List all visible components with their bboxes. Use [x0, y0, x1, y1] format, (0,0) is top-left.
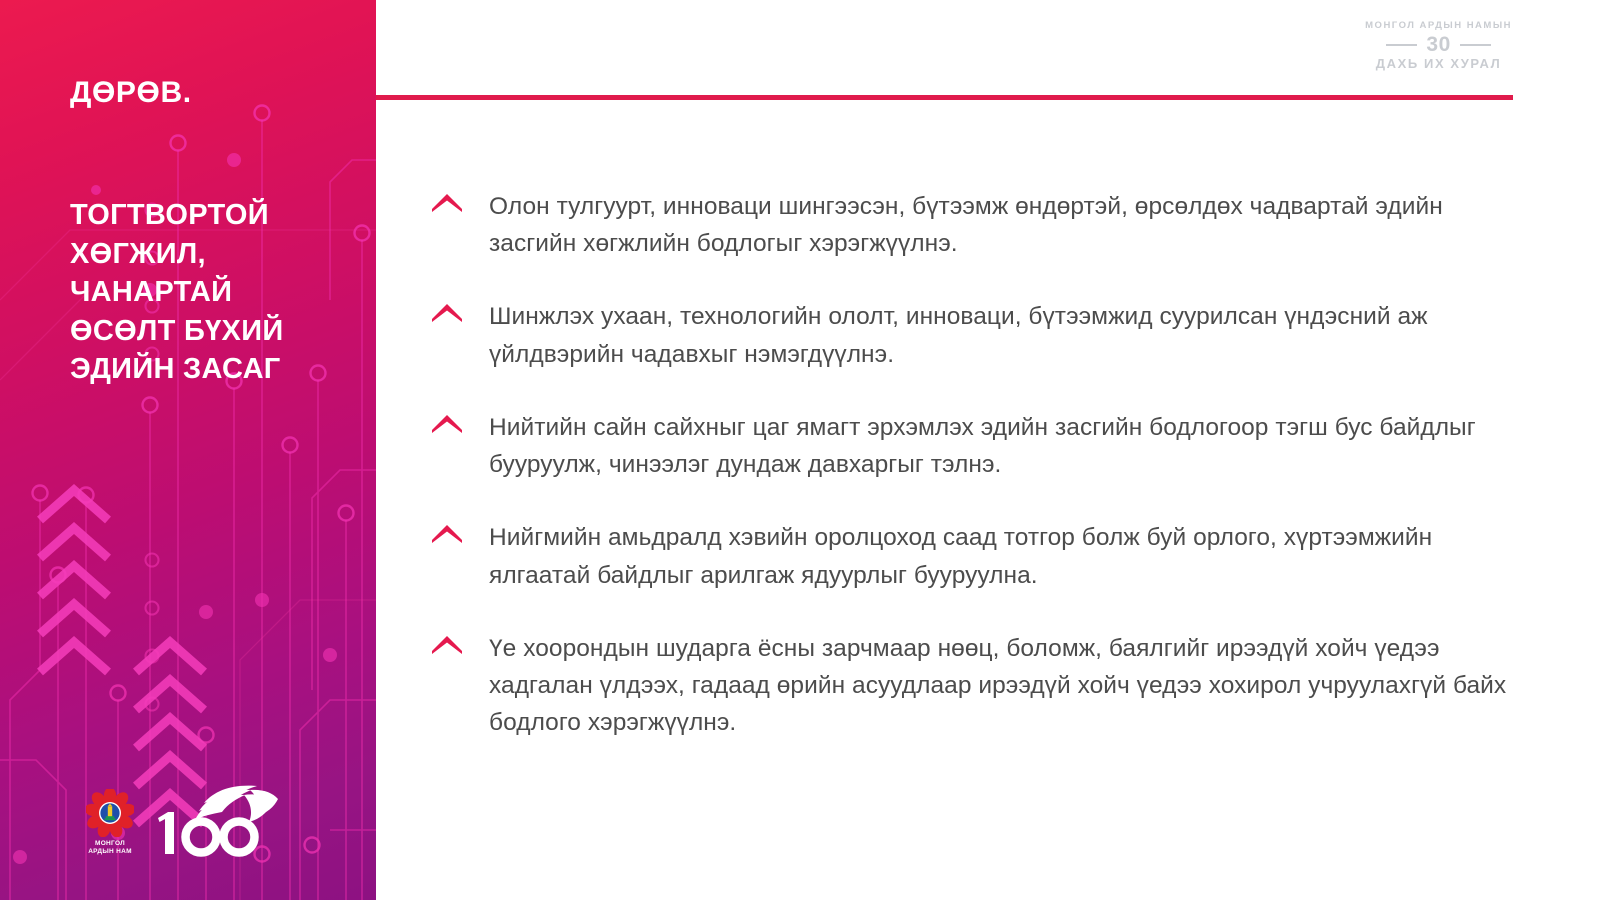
- list-item: Нийгмийн амьдралд хэвийн оролцоход саад …: [432, 519, 1512, 593]
- header-divider-rule: [376, 95, 1513, 100]
- party-emblem-label: МОНГОЛ АРДЫН НАМ: [88, 840, 132, 856]
- section-number: ДӨРӨВ.: [70, 76, 192, 109]
- chevron-up-icon: [432, 304, 462, 327]
- list-item-text: Олон тулгуурт, инноваци шингээсэн, бүтээ…: [489, 188, 1512, 262]
- list-item: Нийтийн сайн сайхныг цаг ямагт эрхэмлэх …: [432, 409, 1512, 483]
- party-emblem: МОНГОЛ АРДЫН НАМ: [86, 789, 134, 860]
- party-emblem-icon: [86, 789, 134, 837]
- page-title: ТОГТВОРТОЙ ХӨГЖИЛ, ЧАНАРТАЙ ӨСӨЛТ БҮХИЙ …: [70, 196, 360, 389]
- centennial-100-icon: 100: [152, 782, 284, 860]
- conference-subtitle: ДАХЬ ИХ ХУРАЛ: [1365, 56, 1512, 72]
- conference-number-row: 30: [1365, 34, 1512, 55]
- chevron-up-icon: [432, 525, 462, 548]
- bullet-list: Олон тулгуурт, инноваци шингээсэн, бүтээ…: [432, 188, 1512, 742]
- chevron-up-icon: [432, 415, 462, 438]
- conference-number: 30: [1426, 34, 1450, 55]
- chevron-up-icon: [432, 636, 462, 659]
- list-item-text: Нийгмийн амьдралд хэвийн оролцоход саад …: [489, 519, 1512, 593]
- list-item-text: Нийтийн сайн сайхныг цаг ямагт эрхэмлэх …: [489, 409, 1512, 483]
- dash-right-decoration: [1460, 44, 1491, 46]
- list-item: Шинжлэх ухаан, технологийн ололт, иннова…: [432, 298, 1512, 372]
- slide: ДӨРӨВ. ТОГТВОРТОЙ ХӨГЖИЛ, ЧАНАРТАЙ ӨСӨЛТ…: [0, 0, 1600, 900]
- circuit-pattern-decoration: [0, 0, 376, 900]
- party-logo-block: МОНГОЛ АРДЫН НАМ 100: [86, 782, 284, 860]
- list-item: Үе хоорондын шударга ёсны зарчмаар нөөц,…: [432, 630, 1512, 742]
- centennial-100-logo: 100: [152, 782, 284, 860]
- dash-left-decoration: [1386, 44, 1417, 46]
- conference-org-line: МОНГОЛ АРДЫН НАМЫН: [1365, 20, 1512, 31]
- list-item-text: Үе хоорондын шударга ёсны зарчмаар нөөц,…: [489, 630, 1512, 742]
- list-item-text: Шинжлэх ухаан, технологийн ололт, иннова…: [489, 298, 1512, 372]
- chevron-up-icon: [432, 194, 462, 217]
- list-item: Олон тулгуурт, инноваци шингээсэн, бүтээ…: [432, 188, 1512, 262]
- conference-mark: МОНГОЛ АРДЫН НАМЫН 30 ДАХЬ ИХ ХУРАЛ: [1365, 20, 1512, 72]
- left-title-panel: ДӨРӨВ. ТОГТВОРТОЙ ХӨГЖИЛ, ЧАНАРТАЙ ӨСӨЛТ…: [0, 0, 376, 900]
